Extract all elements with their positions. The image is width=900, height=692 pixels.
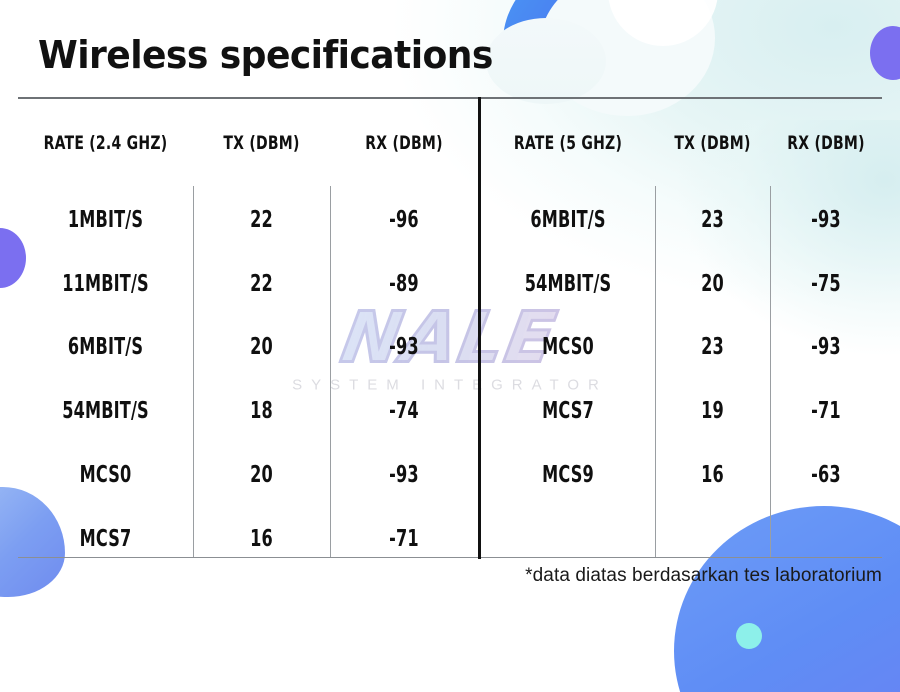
- cell-tx: 23: [668, 316, 758, 380]
- table-5ghz: RATE (5 GHZ) TX (DBM) RX (DBM) 6MBIT/S 2…: [481, 97, 882, 559]
- table-row: 6MBIT/S 20 -93: [18, 316, 478, 380]
- cell-rx: [782, 507, 869, 571]
- cell-rate: 11MBIT/S: [37, 252, 174, 316]
- column-header-rx-5ghz: RX (DBM): [780, 97, 872, 188]
- cell-rx: -63: [782, 443, 869, 507]
- table-row: MCS7 16 -71: [18, 507, 478, 571]
- column-header-tx-5ghz: TX (DBM): [665, 97, 759, 188]
- footnote: *data diatas berdasarkan tes laboratoriu…: [525, 565, 882, 587]
- cell-rate: MCS9: [500, 443, 636, 507]
- column-header-rate-5ghz: RATE (5 GHZ): [497, 97, 640, 188]
- table-row: 6MBIT/S 23 -93: [481, 188, 882, 252]
- cell-rate: 6MBIT/S: [37, 316, 174, 380]
- cell-tx: 20: [668, 252, 758, 316]
- spec-tables: RATE (2.4 GHZ) TX (DBM) RX (DBM) 1MBIT/S…: [18, 97, 882, 559]
- cell-tx: 22: [208, 252, 315, 316]
- table-row: 54MBIT/S 18 -74: [18, 379, 478, 443]
- cell-rx: -93: [346, 316, 461, 380]
- cell-rx: -89: [346, 252, 461, 316]
- cell-tx: [668, 507, 758, 571]
- table-row: MCS9 16 -63: [481, 443, 882, 507]
- slide-canvas: NALE SYSTEM INTEGRATOR Wireless specific…: [0, 0, 900, 692]
- cell-tx: 19: [668, 379, 758, 443]
- cell-tx: 18: [208, 379, 315, 443]
- page-title: Wireless specifications: [38, 33, 493, 77]
- cell-rate: MCS7: [500, 379, 636, 443]
- cell-rx: -93: [782, 316, 869, 380]
- cell-rate: MCS0: [500, 316, 636, 380]
- cell-rx: -93: [346, 443, 461, 507]
- cell-rate: [500, 507, 636, 571]
- column-header-rx-24ghz: RX (DBM): [343, 97, 464, 188]
- cell-rx: -71: [346, 507, 461, 571]
- table-row: 1MBIT/S 22 -96: [18, 188, 478, 252]
- cell-rate: 6MBIT/S: [500, 188, 636, 252]
- column-header-rate-24ghz: RATE (2.4 GHZ): [34, 97, 178, 188]
- table-row: MCS7 19 -71: [481, 379, 882, 443]
- cell-rate: 54MBIT/S: [500, 252, 636, 316]
- cell-tx: 20: [208, 316, 315, 380]
- cell-rate: MCS7: [37, 507, 174, 571]
- cell-rate: 1MBIT/S: [37, 188, 174, 252]
- table-2-4ghz: RATE (2.4 GHZ) TX (DBM) RX (DBM) 1MBIT/S…: [18, 97, 478, 559]
- cell-rx: -93: [782, 188, 869, 252]
- column-header-tx-24ghz: TX (DBM): [205, 97, 317, 188]
- table-row: 11MBIT/S 22 -89: [18, 252, 478, 316]
- table-row: MCS0 23 -93: [481, 316, 882, 380]
- cell-rx: -71: [782, 379, 869, 443]
- cell-rate: MCS0: [37, 443, 174, 507]
- cell-tx: 20: [208, 443, 315, 507]
- slide-content: Wireless specifications RATE (2.4 GHZ) T…: [0, 0, 900, 692]
- cell-tx: 16: [208, 507, 315, 571]
- cell-tx: 16: [668, 443, 758, 507]
- cell-tx: 23: [668, 188, 758, 252]
- cell-tx: 22: [208, 188, 315, 252]
- table-row: 54MBIT/S 20 -75: [481, 252, 882, 316]
- table-row: MCS0 20 -93: [18, 443, 478, 507]
- table-header-row: RATE (5 GHZ) TX (DBM) RX (DBM): [481, 97, 882, 188]
- cell-rx: -74: [346, 379, 461, 443]
- cell-rate: 54MBIT/S: [37, 379, 174, 443]
- cell-rx: -96: [346, 188, 461, 252]
- table-header-row: RATE (2.4 GHZ) TX (DBM) RX (DBM): [18, 97, 478, 188]
- table-row-empty: [481, 507, 882, 571]
- cell-rx: -75: [782, 252, 869, 316]
